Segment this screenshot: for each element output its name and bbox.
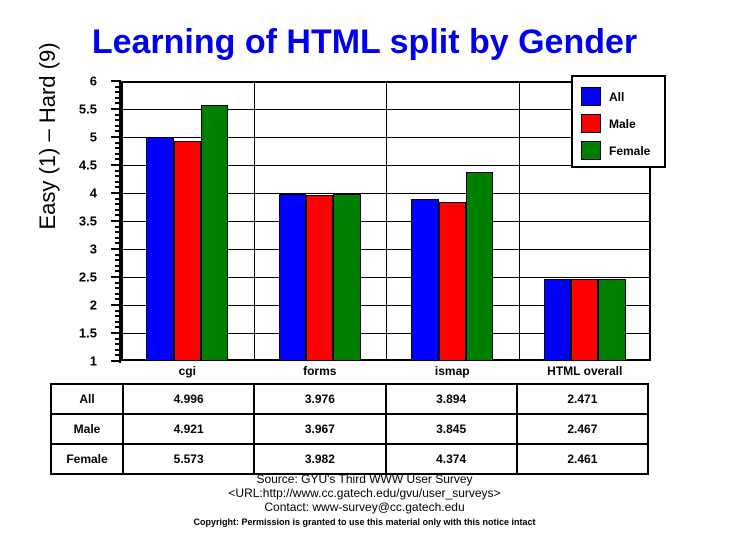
y-tick-label: 2 bbox=[90, 298, 97, 313]
footer-url: <URL:http://www.cc.gatech.edu/gvu/user_s… bbox=[0, 486, 729, 500]
bar-male-forms bbox=[306, 195, 333, 361]
table-row: Male4.9213.9673.8452.467 bbox=[51, 414, 648, 444]
table-cell: 5.573 bbox=[123, 444, 254, 474]
table-cell: 4.921 bbox=[123, 414, 254, 444]
legend-label: All bbox=[609, 90, 624, 104]
page-title: Learning of HTML split by Gender bbox=[0, 22, 729, 62]
table-cell: 3.976 bbox=[254, 384, 385, 414]
chart-legend: AllMaleFemale bbox=[571, 75, 666, 168]
bar-female-ismap bbox=[466, 172, 493, 361]
y-tick-label: 3 bbox=[90, 242, 97, 257]
y-tick-label: 2.5 bbox=[79, 270, 97, 285]
y-tick-label: 5.5 bbox=[79, 102, 97, 117]
gridline-vertical bbox=[254, 81, 255, 361]
gridline-vertical bbox=[519, 81, 520, 361]
y-tick-label: 6 bbox=[90, 74, 97, 89]
bar-male-html-overall bbox=[571, 279, 598, 361]
bar-all-html-overall bbox=[544, 279, 571, 361]
table-row-header: All bbox=[51, 384, 123, 414]
y-tick-label: 3.5 bbox=[79, 214, 97, 229]
bar-all-cgi bbox=[146, 137, 173, 361]
bar-male-ismap bbox=[439, 202, 466, 361]
footer-copyright: Copyright: Permission is granted to use … bbox=[0, 514, 729, 529]
y-tick-label: 1 bbox=[90, 354, 97, 369]
table-cell: 2.461 bbox=[517, 444, 648, 474]
bar-female-cgi bbox=[201, 105, 228, 361]
table-row-header: Female bbox=[51, 444, 123, 474]
y-tick-label: 5 bbox=[90, 130, 97, 145]
table-cell: 2.471 bbox=[517, 384, 648, 414]
legend-item-all: All bbox=[581, 83, 664, 110]
x-category-label: ismap bbox=[386, 364, 519, 378]
legend-label: Female bbox=[609, 144, 650, 158]
x-category-label: forms bbox=[254, 364, 387, 378]
bar-female-forms bbox=[333, 194, 360, 361]
table-cell: 3.982 bbox=[254, 444, 385, 474]
y-tick-label: 4.5 bbox=[79, 158, 97, 173]
y-axis-title: Easy (1) – Hard (9) bbox=[35, 36, 61, 236]
legend-item-male: Male bbox=[581, 110, 664, 137]
legend-swatch-male bbox=[581, 114, 601, 133]
legend-label: Male bbox=[609, 117, 636, 131]
bar-male-cgi bbox=[174, 141, 201, 361]
table-cell: 3.845 bbox=[386, 414, 517, 444]
footer: Source: GYU's Third WWW User Survey <URL… bbox=[0, 472, 729, 529]
bar-all-ismap bbox=[411, 199, 438, 361]
table-cell: 4.374 bbox=[386, 444, 517, 474]
x-category-label: HTML overall bbox=[519, 364, 652, 378]
x-axis-category-labels: cgiformsismapHTML overall bbox=[121, 364, 651, 382]
table-row: All4.9963.9763.8942.471 bbox=[51, 384, 648, 414]
bar-all-forms bbox=[279, 194, 306, 361]
gridline-vertical bbox=[386, 81, 387, 361]
table-cell: 3.894 bbox=[386, 384, 517, 414]
table-cell: 4.996 bbox=[123, 384, 254, 414]
table-row-header: Male bbox=[51, 414, 123, 444]
y-tick-label: 1.5 bbox=[79, 326, 97, 341]
table-cell: 2.467 bbox=[517, 414, 648, 444]
y-tick-label: 4 bbox=[90, 186, 97, 201]
legend-swatch-female bbox=[581, 141, 601, 160]
legend-item-female: Female bbox=[581, 137, 664, 164]
x-category-label: cgi bbox=[121, 364, 254, 378]
table-row: Female5.5733.9824.3742.461 bbox=[51, 444, 648, 474]
footer-contact: Contact: www-survey@cc.gatech.edu bbox=[0, 500, 729, 514]
footer-source: Source: GYU's Third WWW User Survey bbox=[0, 472, 729, 486]
legend-swatch-all bbox=[581, 87, 601, 106]
bar-female-html-overall bbox=[598, 279, 625, 361]
data-table: All4.9963.9763.8942.471Male4.9213.9673.8… bbox=[50, 383, 649, 475]
table-cell: 3.967 bbox=[254, 414, 385, 444]
